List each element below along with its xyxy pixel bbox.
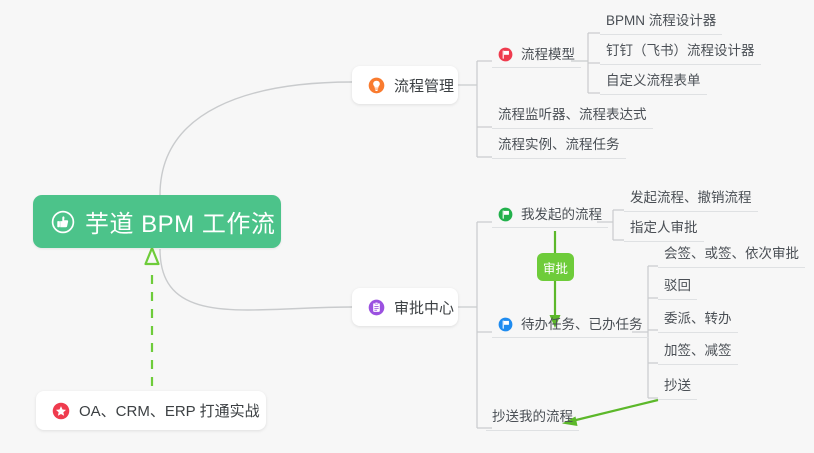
- branch-label-approval-center: 审批中心: [394, 297, 454, 318]
- leaf-label-my-started: 我发起的流程: [521, 206, 602, 223]
- leaf-bpmn-designer[interactable]: BPMN 流程设计器: [600, 12, 722, 35]
- mindmap-canvas: 芋道 BPM 工作流 流程管理 流程模型 BPMN 流程设计器 钉钉（飞书）流程…: [0, 0, 814, 453]
- leaf-flow-listener[interactable]: 流程监听器、流程表达式: [492, 106, 653, 129]
- branch-label-flow-management: 流程管理: [394, 75, 454, 96]
- leaf-cc[interactable]: 抄送: [658, 377, 697, 400]
- link-root-flow-management: [160, 82, 352, 195]
- lightbulb-icon: [368, 77, 385, 94]
- flag-icon: [498, 317, 513, 332]
- leaf-label-todo-done: 待办任务、已办任务: [521, 316, 643, 333]
- approve-badge: 审批: [537, 253, 574, 281]
- branch-node-flow-management[interactable]: 流程管理: [352, 66, 458, 104]
- leaf-sign-modes[interactable]: 会签、或签、依次审批: [658, 245, 805, 268]
- leaf-start-cancel[interactable]: 发起流程、撤销流程: [624, 189, 758, 212]
- footer-label: OA、CRM、ERP 打通实战: [79, 400, 260, 421]
- footer-node[interactable]: OA、CRM、ERP 打通实战: [36, 391, 266, 430]
- leaf-delegate-transfer[interactable]: 委派、转办: [658, 310, 738, 333]
- leaf-custom-form[interactable]: 自定义流程表单: [600, 72, 707, 95]
- star-icon: [52, 402, 70, 420]
- flag-icon: [498, 47, 513, 62]
- leaf-flow-model[interactable]: 流程模型: [492, 46, 581, 63]
- leaf-todo-done[interactable]: 待办任务、已办任务: [492, 316, 649, 333]
- flag-icon: [498, 207, 513, 222]
- leaf-assignee-approve[interactable]: 指定人审批: [624, 219, 704, 242]
- thumbs-up-icon: [51, 210, 75, 234]
- leaf-my-started[interactable]: 我发起的流程: [492, 206, 608, 223]
- branch-node-approval-center[interactable]: 审批中心: [352, 288, 458, 326]
- leaf-add-remove-sign[interactable]: 加签、减签: [658, 342, 738, 365]
- arrow-footer-to-root-head: [146, 248, 159, 264]
- clipboard-icon: [368, 299, 385, 316]
- leaf-cc-to-me[interactable]: 抄送我的流程: [486, 408, 579, 431]
- link-root-approval-center: [160, 249, 352, 310]
- leaf-label-flow-model: 流程模型: [521, 46, 575, 63]
- leaf-reject[interactable]: 驳回: [658, 277, 697, 300]
- root-label: 芋道 BPM 工作流: [85, 204, 275, 239]
- leaf-dingtalk-designer[interactable]: 钉钉（飞书）流程设计器: [600, 42, 761, 65]
- root-node[interactable]: 芋道 BPM 工作流: [33, 195, 281, 248]
- leaf-flow-instance[interactable]: 流程实例、流程任务: [492, 136, 626, 159]
- arrow-cc-to-ccme: [572, 400, 658, 421]
